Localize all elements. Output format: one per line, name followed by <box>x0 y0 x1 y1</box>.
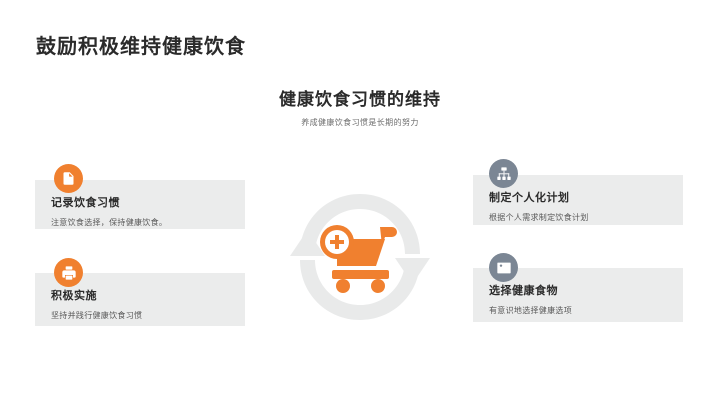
card-description: 根据个人需求制定饮食计划 <box>489 212 667 223</box>
card-title: 选择健康食物 <box>489 282 667 298</box>
card-description: 注意饮食选择，保持健康饮食。 <box>51 217 229 228</box>
image-picture-icon <box>489 253 518 282</box>
card-title: 积极实施 <box>51 287 229 303</box>
cycle-diagram <box>281 182 439 332</box>
center-subheading: 养成健康饮食习惯是长期的努力 <box>0 117 720 128</box>
card-title: 记录饮食习惯 <box>51 194 229 210</box>
card-description: 坚持并践行健康饮食习惯 <box>51 310 229 321</box>
page-title: 鼓励积极维持健康饮食 <box>36 30 246 59</box>
sitemap-hierarchy-icon <box>489 159 518 188</box>
printer-icon <box>54 258 83 287</box>
card-title: 制定个人化计划 <box>489 189 667 205</box>
shopping-cart-plus-icon <box>320 225 397 293</box>
document-file-icon <box>54 164 83 193</box>
center-heading: 健康饮食习惯的维持 <box>0 85 720 110</box>
card-description: 有意识地选择健康选项 <box>489 305 667 316</box>
